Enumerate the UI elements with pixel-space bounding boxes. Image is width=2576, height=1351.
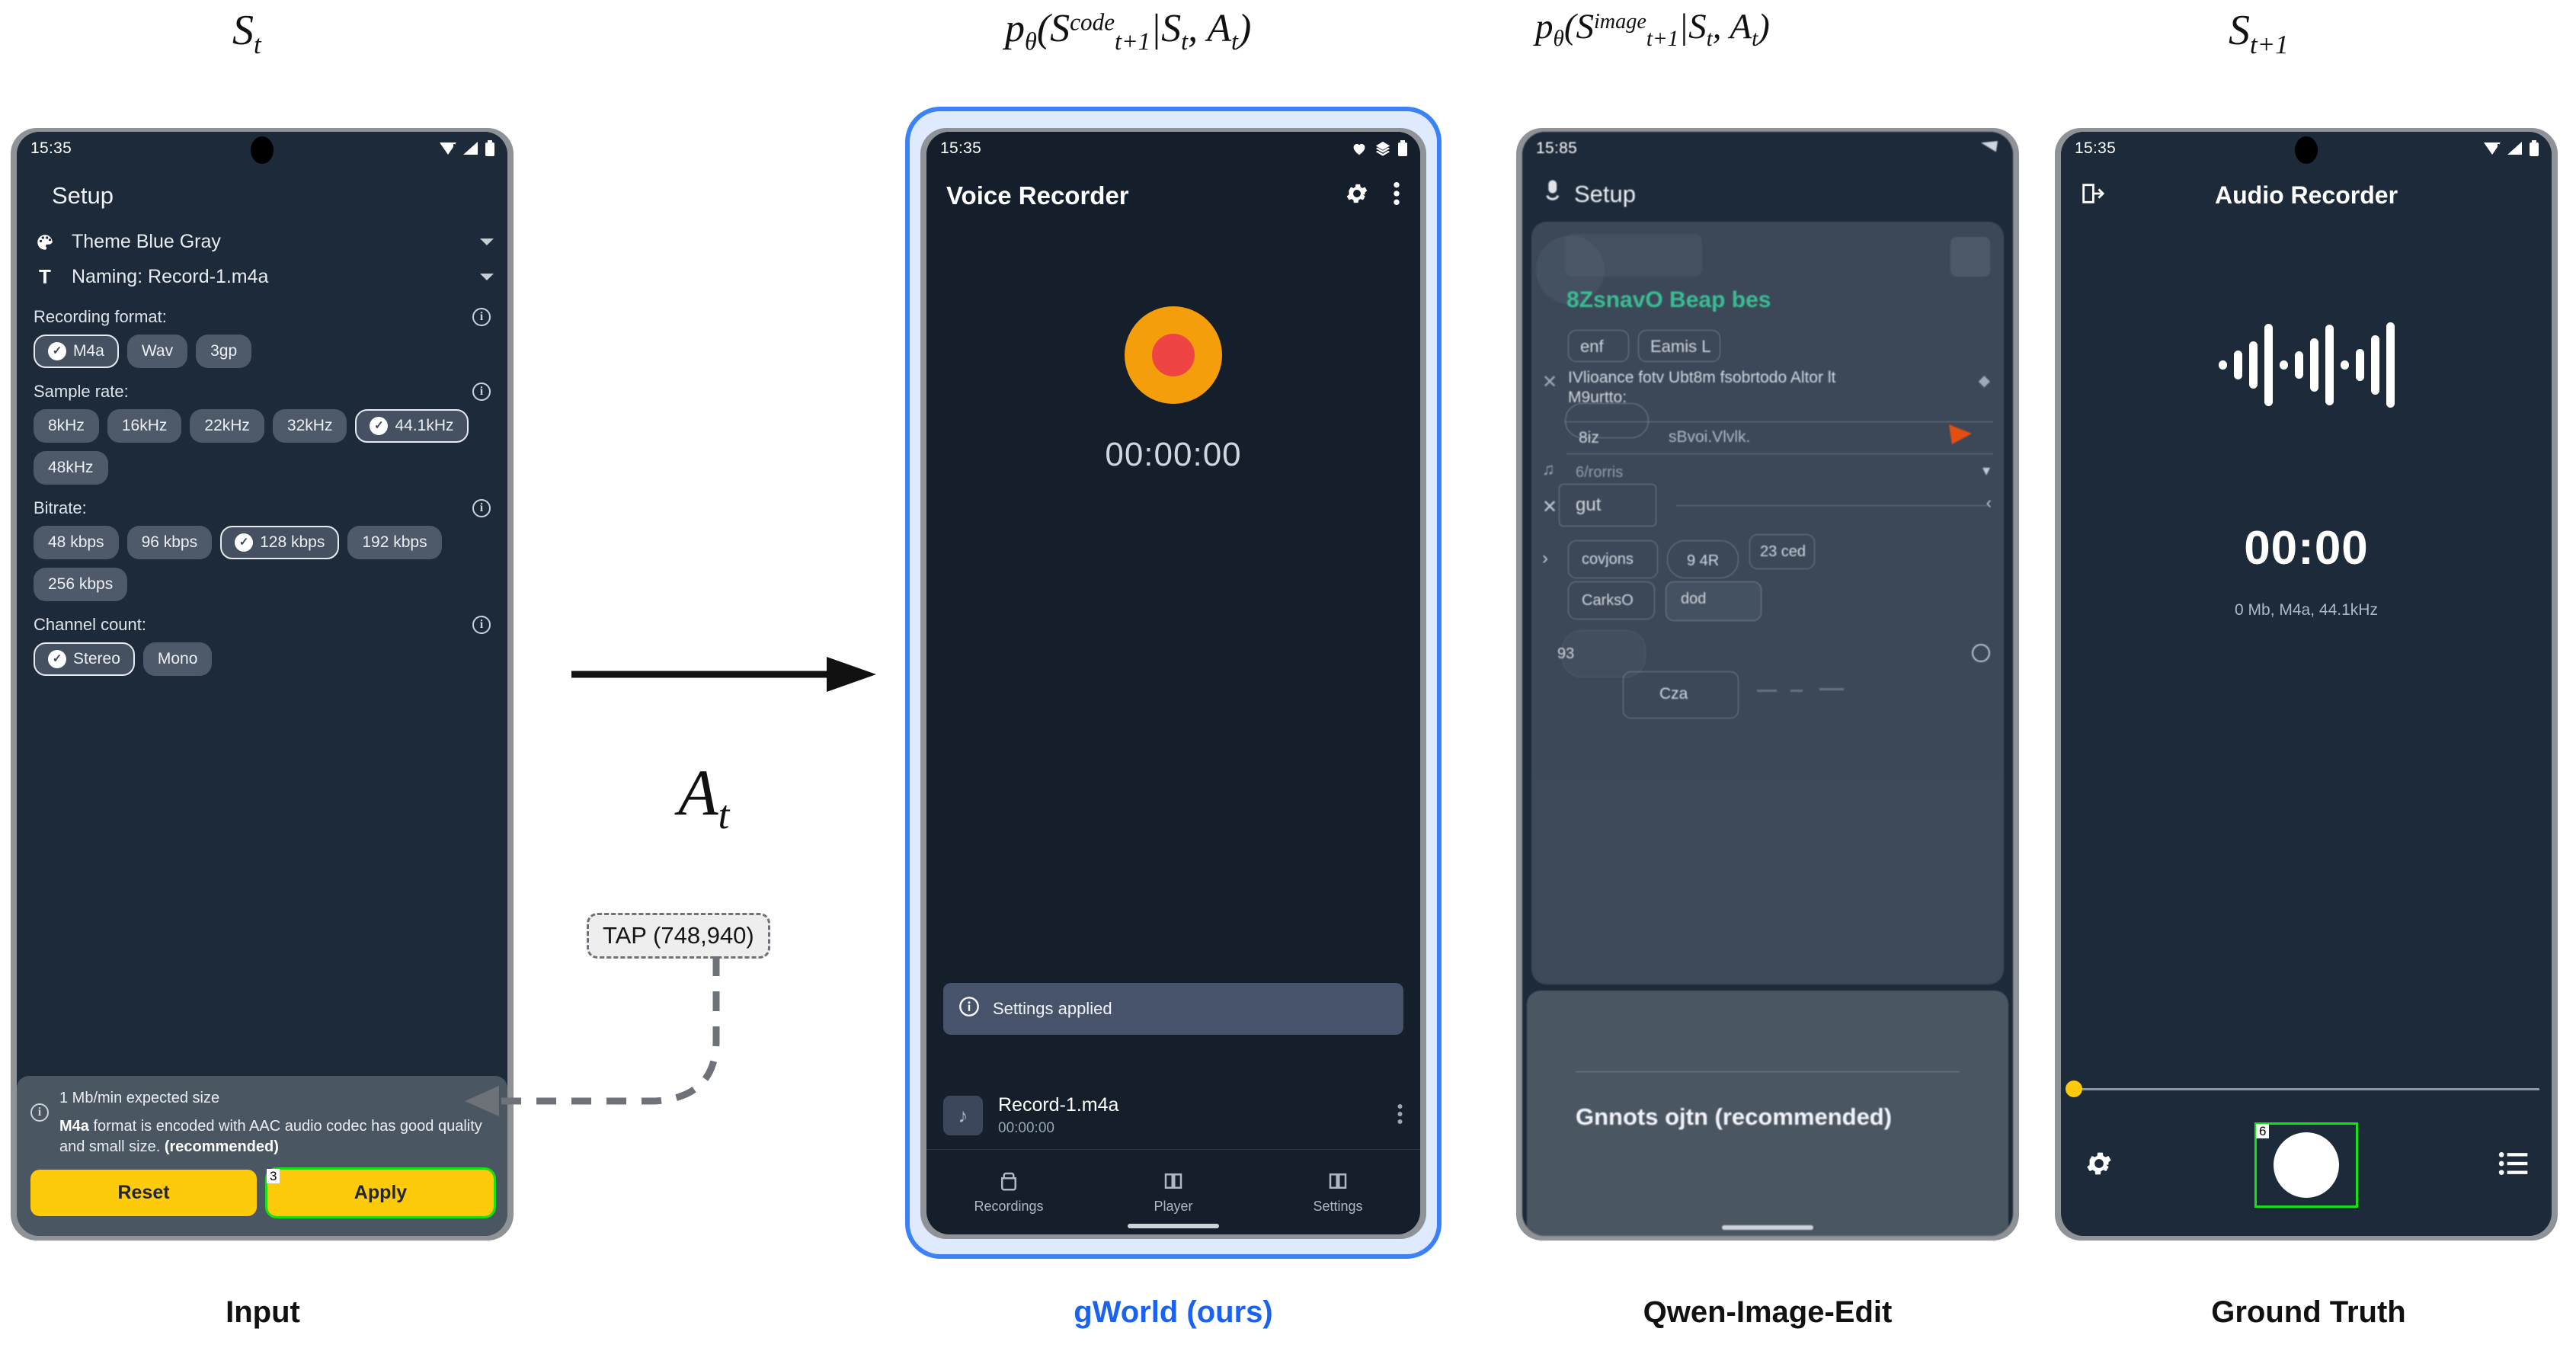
status-system-icons	[1350, 140, 1408, 157]
info-icon	[958, 996, 980, 1022]
text-format-icon: T	[35, 265, 55, 289]
waveform-bar	[2219, 360, 2227, 370]
recording-timer: 00:00:00	[926, 436, 1420, 474]
reset-button-label: Reset	[117, 1182, 169, 1203]
slider-knob[interactable]	[2066, 1080, 2082, 1097]
garbled-x-icon: ✕	[1542, 496, 1557, 518]
gear-icon[interactable]	[1344, 181, 1370, 210]
chip-48kbps[interactable]: 48 kbps	[34, 526, 119, 559]
chip-label: 192 kbps	[362, 533, 427, 552]
chip-8khz[interactable]: 8kHz	[34, 409, 99, 443]
garbled-text: 8ZsnavO Beap bes	[1566, 287, 1771, 313]
section-title: Bitrate:	[34, 498, 87, 518]
target-badge: 6	[2256, 1124, 2269, 1138]
chip-group-channel-count: ✓Stereo Mono	[17, 639, 507, 677]
chip-label: 44.1kHz	[395, 417, 453, 435]
garbled-chip	[1565, 403, 1649, 438]
garbled-text: CarksO	[1582, 592, 1634, 610]
status-clock: 15:35	[30, 139, 72, 158]
record-button-inner	[2274, 1132, 2339, 1198]
garbled-chip	[1559, 484, 1656, 527]
home-indicator	[1722, 1225, 1813, 1230]
recording-list-item[interactable]: ♪ Record-1.m4a 00:00:00	[943, 1094, 1403, 1137]
wifi-icon	[2483, 141, 2501, 156]
target-badge: 3	[267, 1169, 280, 1183]
chevron-down-icon[interactable]	[480, 239, 494, 245]
garbled-text: gut	[1576, 495, 1601, 516]
chip-label: Mono	[158, 650, 198, 668]
recommended-tag: (recommended)	[165, 1138, 279, 1155]
garbled-text: IVlioance fotv Ubt8m fsobrtodo Altor lt	[1568, 369, 1835, 387]
chip-256kbps[interactable]: 256 kbps	[34, 568, 127, 601]
tap-action-label: TAP (748,940)	[587, 913, 770, 959]
status-system-icons	[2483, 140, 2539, 157]
page-title: Setup	[17, 165, 507, 225]
caption-gworld: gWorld (ours)	[1044, 1295, 1303, 1330]
progress-slider[interactable]	[2061, 1080, 2539, 1097]
chip-label: Stereo	[73, 650, 120, 668]
action-target-connector	[427, 956, 747, 1139]
garbled-text: 93	[1557, 645, 1574, 663]
info-icon[interactable]: i	[472, 499, 491, 517]
waveform-bar	[2356, 349, 2364, 381]
section-header-bitrate: Bitrate: i	[17, 486, 507, 523]
apply-button[interactable]: 3 Apply	[267, 1170, 494, 1216]
waveform-bar	[2341, 360, 2349, 370]
garbled-diamond-icon: ◆	[1979, 371, 1990, 390]
garbled-x-icon: ✕	[1542, 371, 1557, 393]
home-indicator	[1128, 1224, 1219, 1228]
garbled-text: 23 ced	[1760, 543, 1806, 561]
section-title: Recording format:	[34, 307, 167, 327]
garbled-text: sBvoi.Vlvlk.	[1669, 428, 1750, 447]
setting-row-naming[interactable]: T Naming: Record-1.m4a	[17, 259, 507, 295]
more-vertical-icon[interactable]	[1393, 181, 1400, 210]
status-system-icons	[1978, 140, 2001, 157]
page-title: Setup	[1574, 165, 1636, 222]
bottom-nav: Recordings Player Settings	[926, 1149, 1420, 1234]
action-symbol: At	[678, 754, 729, 838]
caption-state-t: St	[232, 6, 261, 60]
mic-icon	[1544, 179, 1560, 209]
battery-icon	[485, 140, 495, 157]
garbled-divider	[1566, 453, 1993, 454]
phone-frame-gworld: 15:35 Voice Recorder	[920, 128, 1426, 1239]
tab-recordings[interactable]: Recordings	[926, 1150, 1091, 1234]
tab-label: Recordings	[974, 1199, 1043, 1215]
signal-icon	[2507, 141, 2523, 156]
garbled-text: covjons	[1582, 551, 1634, 568]
check-icon: ✓	[235, 533, 253, 552]
layers-icon	[1374, 140, 1392, 157]
transition-arrow	[564, 640, 884, 709]
status-system-icons	[439, 140, 495, 157]
chip-label: 16kHz	[122, 417, 168, 435]
chip-label: 96 kbps	[142, 533, 198, 552]
chip-label: Wav	[142, 342, 173, 360]
phone3-screen: 15:85 Setup 8ZsnavO Beap bes enf	[1522, 132, 2013, 1236]
chip-mono[interactable]: Mono	[143, 642, 213, 676]
phone-frame-qwen: 15:85 Setup 8ZsnavO Beap bes enf	[1516, 128, 2019, 1241]
caption-ground-truth: Ground Truth	[2118, 1295, 2499, 1330]
chip-stereo[interactable]: ✓Stereo	[34, 642, 135, 676]
phone2-appbar: Voice Recorder	[926, 165, 1420, 224]
reset-button[interactable]: Reset	[30, 1170, 257, 1216]
chip-label: 128 kbps	[260, 533, 325, 552]
phone3-statusbar: 15:85	[1522, 132, 2013, 165]
app-title: Voice Recorder	[946, 181, 1344, 210]
waveform-bar	[2310, 338, 2318, 392]
recording-duration: 00:00:00	[998, 1120, 1381, 1137]
waveform-bar	[2386, 322, 2395, 408]
status-toast-text: Settings applied	[993, 999, 1112, 1019]
camera-notch	[251, 136, 274, 164]
recording-meta: 0 Mb, M4a, 44.1kHz	[2061, 601, 2552, 619]
garbled-chip	[1562, 630, 1646, 677]
chip-label: 48kHz	[48, 459, 94, 477]
waveform-visualizer	[2061, 308, 2552, 422]
more-vertical-icon[interactable]	[1397, 1103, 1403, 1129]
setting-row-theme-label: Theme Blue Gray	[72, 231, 463, 253]
slider-track[interactable]	[2082, 1088, 2539, 1090]
chip-96kbps[interactable]: 96 kbps	[127, 526, 213, 559]
phone2-screen: 15:35 Voice Recorder	[926, 132, 1420, 1234]
garbled-play-icon	[1947, 423, 1973, 446]
garbled-text: 8iz	[1579, 429, 1599, 447]
highlight-frame-gworld: 15:35 Voice Recorder	[905, 107, 1442, 1259]
waveform-bar	[2295, 351, 2303, 379]
garbled-caret-icon: ▾	[1982, 461, 1990, 480]
garbled-prev-icon: ‹	[1986, 493, 1992, 513]
phone4-screen: 15:35 Audio Recorder	[2061, 132, 2552, 1236]
chip-32khz[interactable]: 32kHz	[273, 409, 347, 443]
caption-input: Input	[137, 1295, 389, 1330]
chip-wav[interactable]: Wav	[127, 335, 187, 368]
chip-label: 8kHz	[48, 417, 85, 435]
waveform-bar	[2234, 351, 2242, 379]
status-clock: 15:85	[1536, 139, 1577, 158]
status-clock: 15:35	[940, 139, 981, 158]
gear-icon[interactable]	[2084, 1148, 2114, 1183]
chip-44-1khz[interactable]: ✓44.1kHz	[355, 409, 468, 443]
check-icon: ✓	[370, 417, 388, 435]
section-title: Channel count:	[34, 615, 146, 635]
chip-group-recording-format: ✓M4a Wav 3gp	[17, 331, 507, 370]
garbled-divider	[1757, 690, 1777, 692]
book-icon	[1162, 1170, 1185, 1193]
chip-label: 22kHz	[204, 417, 250, 435]
phone4-appbar: Audio Recorder	[2061, 165, 2552, 222]
info-icon: i	[30, 1103, 49, 1122]
chip-label: 32kHz	[287, 417, 333, 435]
garbled-text: Cza	[1659, 685, 1688, 703]
battery-icon	[1397, 140, 1408, 157]
waveform-bar	[2249, 341, 2258, 389]
waveform-bar	[2264, 324, 2273, 406]
chip-3gp[interactable]: 3gp	[196, 335, 251, 368]
chip-16khz[interactable]: 16kHz	[107, 409, 182, 443]
chip-label: 3gp	[210, 342, 237, 360]
camera-notch	[2295, 136, 2318, 164]
garbled-footer-text: Gnnots ojtn (recommended)	[1576, 1103, 1892, 1131]
status-clock: 15:35	[2075, 139, 2116, 158]
setting-row-theme[interactable]: Theme Blue Gray	[17, 225, 507, 259]
check-icon: ✓	[48, 650, 66, 668]
caption-qwen: Qwen-Image-Edit	[1570, 1295, 1966, 1330]
signal-icon	[462, 141, 479, 156]
section-title: Sample rate:	[34, 382, 129, 402]
garbled-footer: Gnnots ojtn (recommended)	[1527, 991, 2008, 1236]
garbled-content-panel: 8ZsnavO Beap bes enf Eamis L ✕ IVlioance…	[1531, 222, 2004, 984]
book-icon	[1326, 1170, 1349, 1193]
list-icon[interactable]	[2498, 1151, 2529, 1180]
chip-48khz[interactable]: 48kHz	[34, 451, 108, 485]
waveform-bar	[2280, 360, 2288, 370]
apply-button-label: Apply	[354, 1182, 407, 1203]
chip-group-bitrate: 48 kbps 96 kbps ✓128 kbps 192 kbps 256 k…	[17, 523, 507, 603]
record-button-inner	[1152, 334, 1195, 376]
garbled-text: enf	[1580, 337, 1604, 357]
recording-timer: 00:00	[2061, 521, 2552, 575]
chip-m4a[interactable]: ✓M4a	[34, 335, 119, 368]
garbled-text: 9 4R	[1687, 552, 1719, 570]
garbled-chip	[1666, 581, 1762, 621]
check-icon: ✓	[48, 342, 66, 360]
garbled-divider	[1819, 688, 1844, 690]
chip-192kbps[interactable]: 192 kbps	[347, 526, 441, 559]
battery-icon	[2529, 140, 2539, 157]
arrow-icon	[1978, 140, 2001, 157]
chevron-down-icon[interactable]	[480, 274, 494, 280]
garbled-note-icon: ♫	[1542, 459, 1555, 479]
format-name: M4a	[59, 1118, 89, 1135]
info-icon[interactable]: i	[472, 616, 491, 634]
chip-22khz[interactable]: 22kHz	[190, 409, 264, 443]
garbled-divider	[1676, 505, 1987, 506]
archive-icon	[997, 1170, 1020, 1193]
chip-label: 256 kbps	[48, 575, 113, 594]
tab-settings[interactable]: Settings	[1256, 1150, 1420, 1234]
playback-controls: 6	[2061, 1116, 2552, 1215]
recording-name: Record-1.m4a	[998, 1094, 1381, 1116]
phone2-statusbar: 15:35	[926, 132, 1420, 165]
section-header-sample-rate: Sample rate: i	[17, 370, 507, 406]
section-header-recording-format: Recording format: i	[17, 295, 507, 331]
garbled-text: Eamis L	[1650, 337, 1710, 357]
garbled-chevron-icon: ›	[1542, 548, 1548, 569]
chip-label: 48 kbps	[48, 533, 104, 552]
wifi-icon	[439, 141, 457, 156]
tab-label: Player	[1154, 1199, 1192, 1215]
garbled-text: dod	[1681, 591, 1706, 608]
setting-row-naming-label: Naming: Record-1.m4a	[72, 266, 463, 288]
caption-image-dist: pθ(Simaget+1|St, At)	[1535, 6, 1770, 52]
phone-frame-ground-truth: 15:35 Audio Recorder	[2055, 128, 2558, 1241]
status-toast: Settings applied	[943, 983, 1403, 1035]
music-note-icon: ♪	[943, 1096, 983, 1135]
section-header-channel-count: Channel count: i	[17, 603, 507, 639]
palette-icon	[35, 232, 55, 252]
app-title: Audio Recorder	[2061, 181, 2552, 210]
chip-group-sample-rate: 8kHz 16kHz 22kHz 32kHz ✓44.1kHz 48kHz	[17, 406, 507, 486]
figure-canvas: St pθ(Scodet+1|St, At) pθ(Simaget+1|St, …	[0, 0, 2576, 1351]
chip-128kbps[interactable]: ✓128 kbps	[220, 526, 339, 559]
garbled-divider	[1790, 690, 1803, 692]
heart-icon	[1350, 140, 1368, 157]
info-icon[interactable]: i	[472, 308, 491, 326]
chip-label: M4a	[73, 342, 104, 360]
info-icon	[1972, 644, 1990, 662]
tab-player[interactable]: Player	[1091, 1150, 1256, 1234]
tab-label: Settings	[1313, 1199, 1362, 1215]
garbled-text: 6/rorris	[1576, 464, 1623, 482]
caption-state-t1: St+1	[2229, 6, 2288, 60]
info-icon[interactable]: i	[472, 383, 491, 401]
record-button[interactable]: 6	[2257, 1125, 2356, 1205]
caption-code-dist: pθ(Scodet+1|St, At)	[1005, 6, 1251, 56]
waveform-bar	[2371, 335, 2379, 395]
waveform-bar	[2325, 325, 2334, 405]
record-button[interactable]	[1125, 306, 1222, 404]
